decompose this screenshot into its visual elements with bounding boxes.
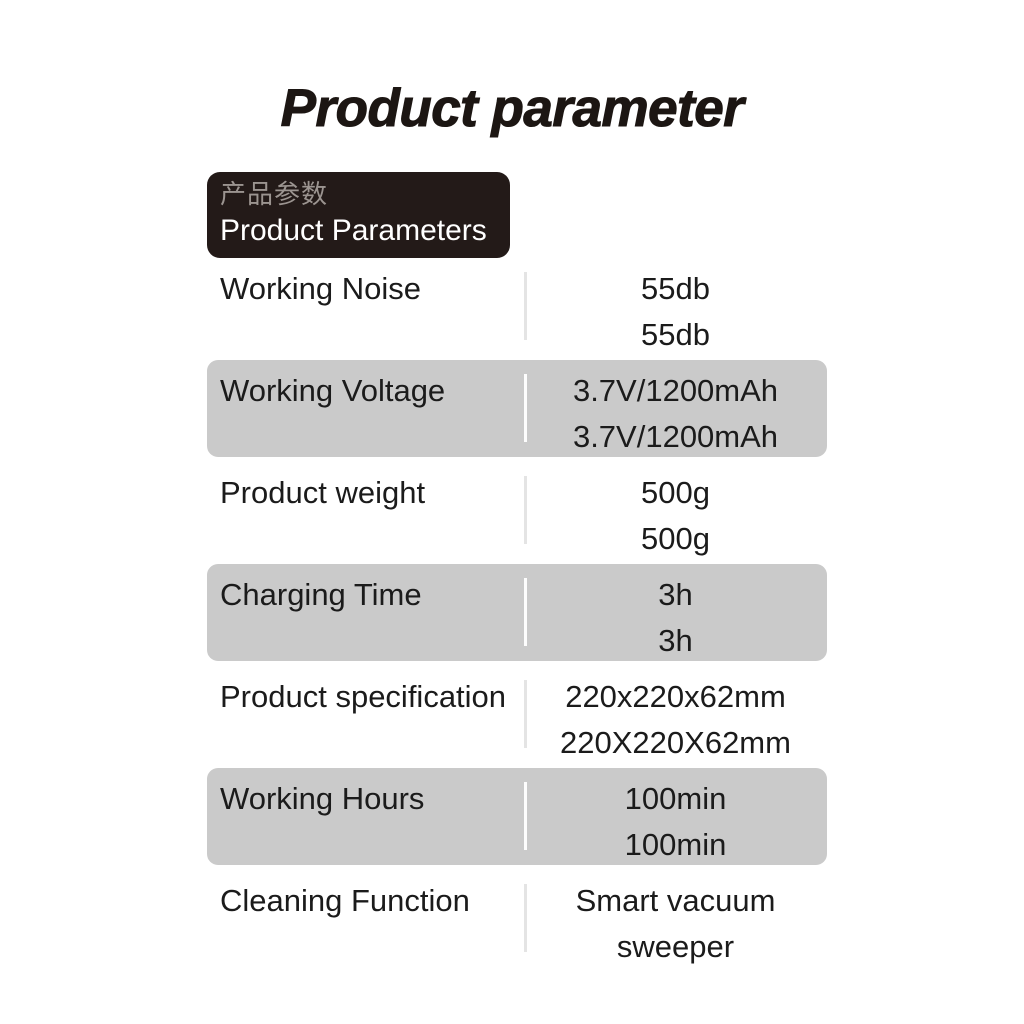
table-header-badge: 产品参数 Product Parameters — [207, 172, 510, 258]
page-title: Product parameter — [0, 78, 1024, 139]
row-value: 3h 3h — [524, 564, 827, 661]
row-label: Charging Time — [207, 564, 524, 618]
table-row: Charging Time 3h 3h — [207, 564, 827, 661]
table-row: Working Hours 100min 100min — [207, 768, 827, 865]
column-divider — [524, 578, 527, 646]
column-divider — [524, 272, 527, 340]
table-row: Cleaning Function Smart vacuum sweeper — [207, 870, 827, 967]
table-header-title-cn: 产品参数 — [220, 179, 510, 212]
row-value: Smart vacuum sweeper — [524, 870, 827, 967]
column-divider — [524, 884, 527, 952]
row-value: 100min 100min — [524, 768, 827, 865]
row-value: 500g 500g — [524, 462, 827, 559]
table-row: Product specification 220x220x62mm 220X2… — [207, 666, 827, 763]
row-label: Working Noise — [207, 258, 524, 312]
column-divider — [524, 374, 527, 442]
row-label: Working Voltage — [207, 360, 524, 414]
column-divider — [524, 680, 527, 748]
row-value: 220x220x62mm 220X220X62mm — [524, 666, 827, 763]
table-row: Working Noise 55db 55db — [207, 258, 827, 355]
row-value: 55db 55db — [524, 258, 827, 355]
row-label: Product specification — [207, 666, 524, 720]
table-row: Product weight 500g 500g — [207, 462, 827, 559]
table-row: Working Voltage 3.7V/1200mAh 3.7V/1200mA… — [207, 360, 827, 457]
row-label: Cleaning Function — [207, 870, 524, 924]
row-value: 3.7V/1200mAh 3.7V/1200mAh — [524, 360, 827, 457]
column-divider — [524, 782, 527, 850]
table-header-title-en: Product Parameters — [220, 212, 510, 250]
row-label: Product weight — [207, 462, 524, 516]
column-divider — [524, 476, 527, 544]
row-label: Working Hours — [207, 768, 524, 822]
product-parameters-table: 产品参数 Product Parameters Working Noise 55… — [207, 172, 827, 967]
